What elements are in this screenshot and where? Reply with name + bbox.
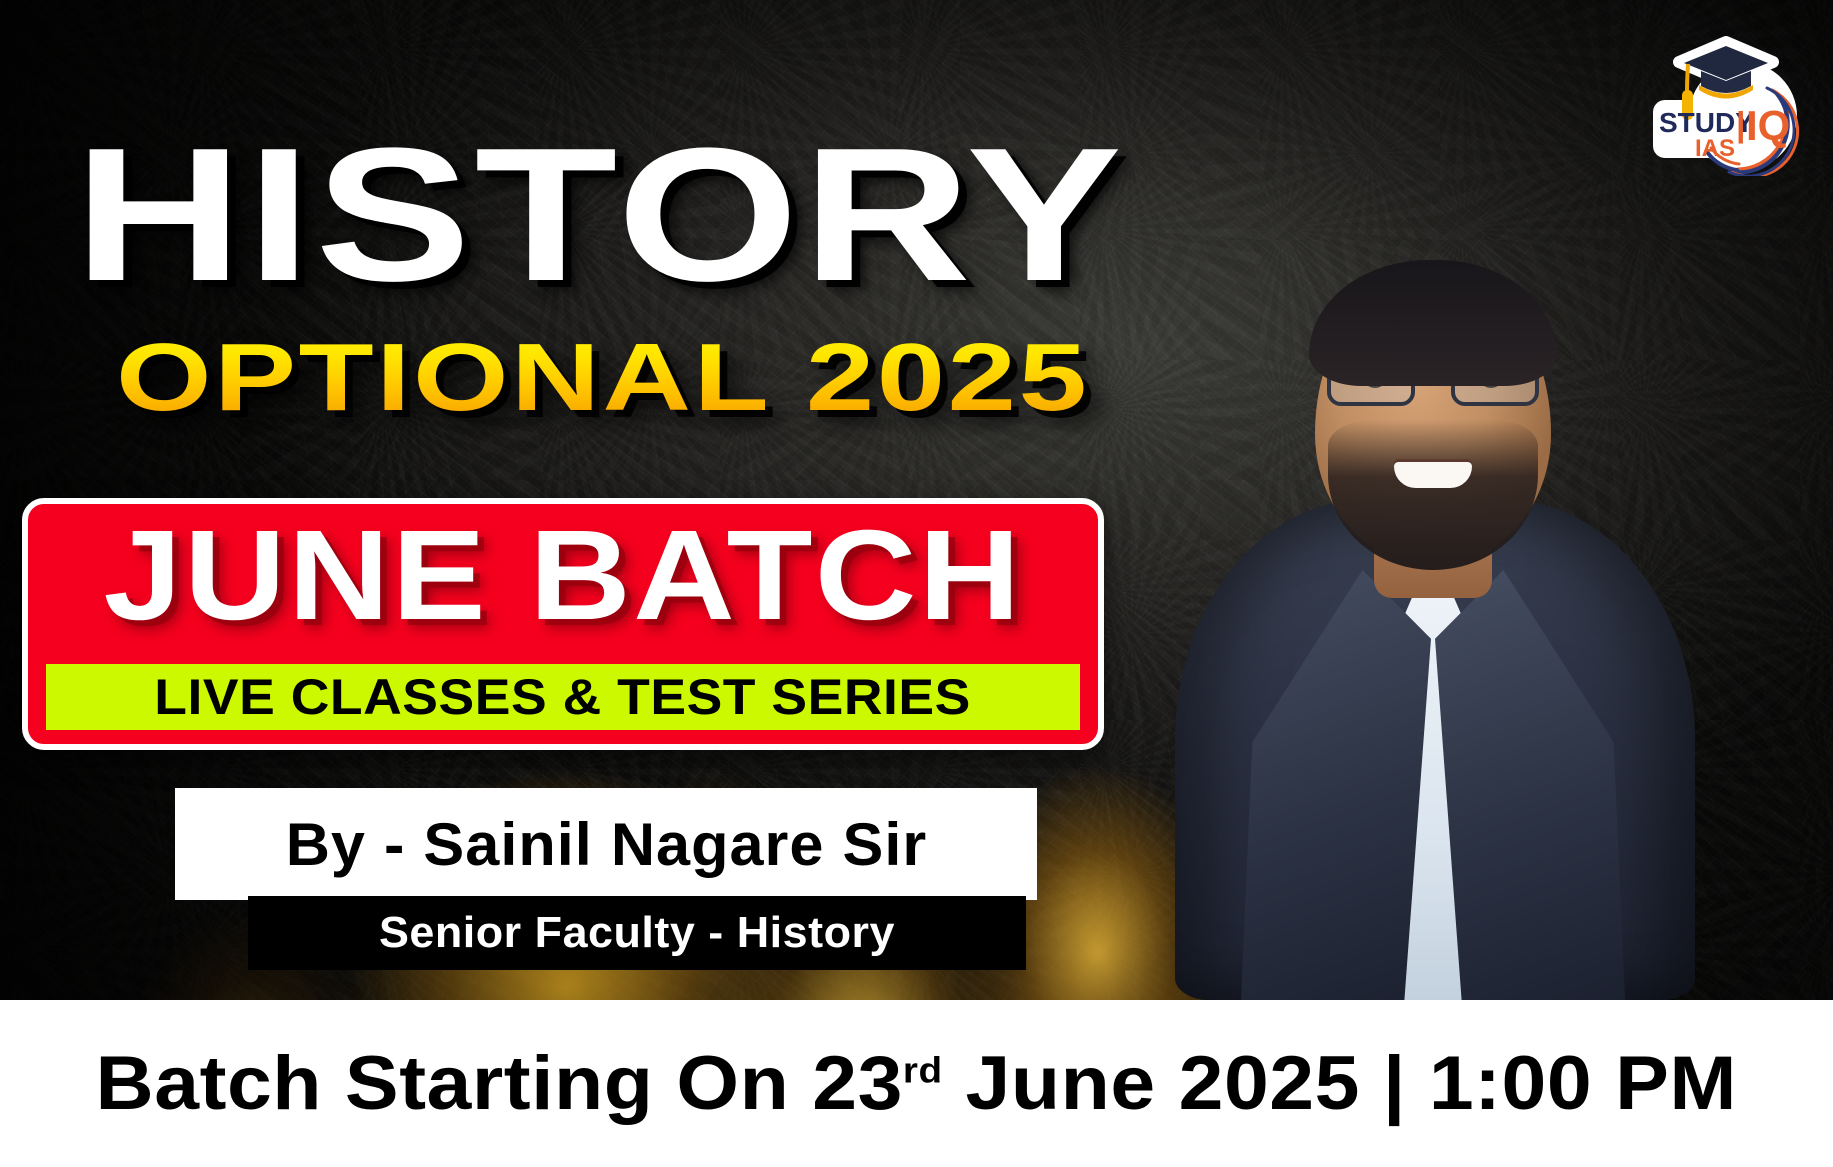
batch-highlight-panel: JUNE BATCH LIVE CLASSES & TEST SERIES [22,498,1104,750]
footer-schedule-strip: Batch Starting On 23rd June 2025 | 1:00 … [0,1000,1833,1167]
footer-suffix: June 2025 | 1:00 PM [943,1041,1737,1126]
subtitle-optional-year: OPTIONAL 2025 [116,330,1089,426]
promo-thumbnail: STUDY | IQ IAS HISTORY OPTIONAL 2025 JUN… [0,0,1833,1167]
presenter-smile [1394,462,1472,488]
features-bar: LIVE CLASSES & TEST SERIES [46,664,1080,730]
faculty-role-bar: Senior Faculty - History [248,896,1026,970]
faculty-name-bar: By - Sainil Nagare Sir [175,788,1037,900]
footer-prefix: Batch Starting On 23 [96,1041,903,1126]
presenter-hair [1309,260,1557,386]
presenter-photo [1153,240,1713,1000]
faculty-role-label: Senior Faculty - History [379,908,895,958]
page-title: HISTORY [74,128,1126,303]
logo-divider: | [1736,106,1746,144]
faculty-name-label: By - Sainil Nagare Sir [285,810,926,879]
footer-ordinal: rd [903,1050,943,1091]
batch-title: JUNE BATCH [0,498,1152,654]
studyiq-logo: STUDY | IQ IAS [1651,28,1801,176]
features-bar-label: LIVE CLASSES & TEST SERIES [155,668,972,726]
logo-brand-bottom: IAS [1695,135,1735,162]
footer-schedule-text: Batch Starting On 23rd June 2025 | 1:00 … [96,1040,1737,1127]
logo-brand-mark: IQ [1746,102,1790,149]
